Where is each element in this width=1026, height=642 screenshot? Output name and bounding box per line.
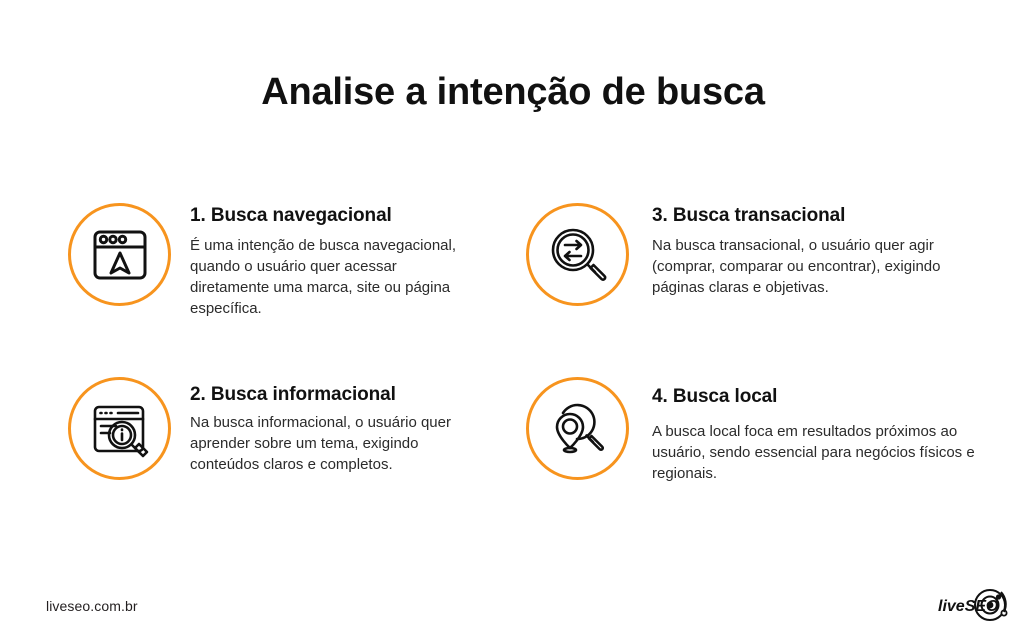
card-body: A busca local foca em resultados próximo… [652,421,977,484]
card-busca-informacional: 2. Busca informacional Na busca informac… [68,377,488,480]
footer-website-url: liveseo.com.br [46,598,138,614]
card-busca-navegacional: 1. Busca navegacional É uma intenção de … [68,203,488,319]
card-heading: 2. Busca informacional [190,383,482,407]
map-pin-magnifier-icon [526,377,629,480]
card-heading: 1. Busca navegacional [190,204,480,228]
card-body: Na busca transacional, o usuário quer ag… [652,235,942,298]
card-text-block: 4. Busca local A busca local foca em res… [652,377,977,484]
card-busca-transacional: 3. Busca transacional Na busca transacio… [526,203,966,306]
cards-grid: 1. Busca navegacional É uma intenção de … [0,0,1026,642]
browser-window-navigation-arrow-icon [68,203,171,306]
liveseo-orbit-logo-icon: liveSEO [938,586,1014,624]
card-busca-local: 4. Busca local A busca local foca em res… [526,377,976,484]
magnifier-exchange-arrows-icon [526,203,629,306]
browser-window-magnifier-info-icon [68,377,171,480]
card-heading: 4. Busca local [652,385,977,409]
card-text-block: 2. Busca informacional Na busca informac… [190,377,482,475]
card-body: Na busca informacional, o usuário quer a… [190,412,482,475]
card-heading: 3. Busca transacional [652,204,942,228]
card-text-block: 1. Busca navegacional É uma intenção de … [190,203,480,319]
card-body: É uma intenção de busca navegacional, qu… [190,235,480,319]
card-text-block: 3. Busca transacional Na busca transacio… [652,203,942,298]
